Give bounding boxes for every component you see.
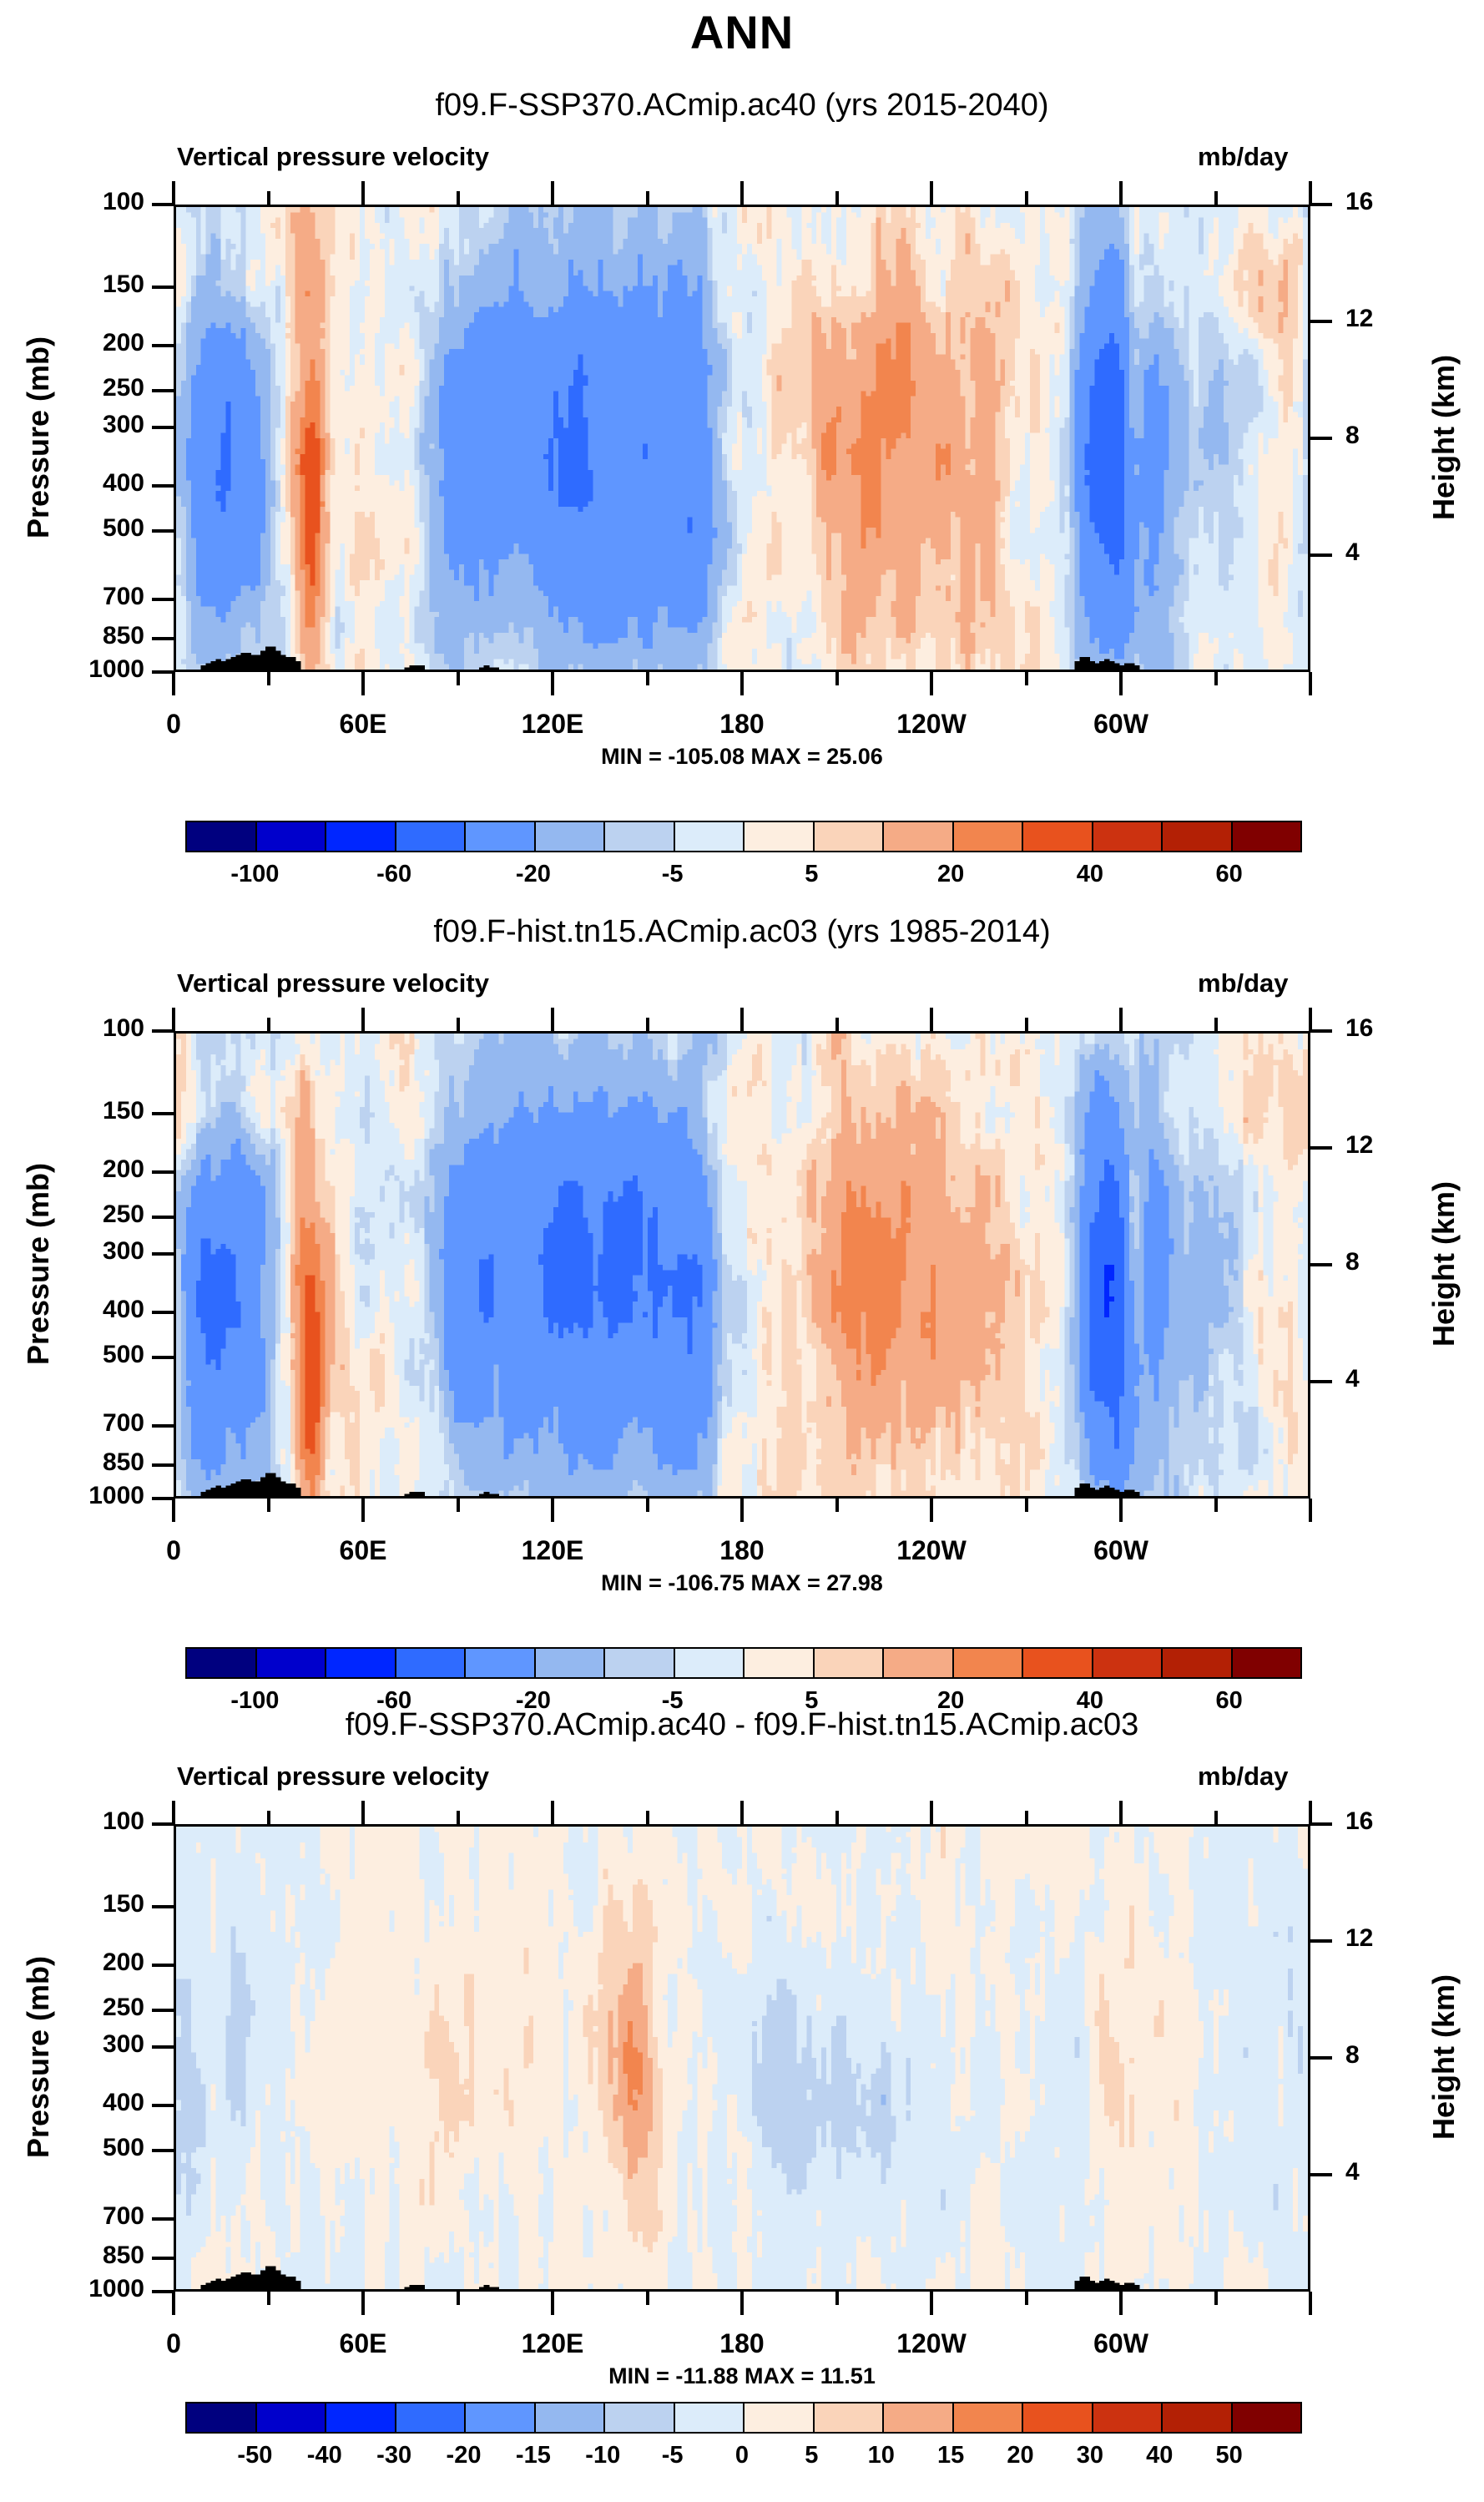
panel-3-title: f09.F-SSP370.ACmip.ac40 - f09.F-hist.tn1… [0, 1707, 1484, 1743]
panel-2-contour-field [176, 1034, 1308, 1496]
panel-3-contour-field [176, 1827, 1308, 2289]
panel-3-xtick-top-330 [1214, 1811, 1218, 1824]
panel-3-ytick-label-150: 150 [0, 1890, 144, 1918]
panel-2-ytick-label-850: 850 [0, 1448, 144, 1477]
panel-3-colorbar-label-1: -40 [307, 2442, 342, 2469]
panel-2-ytick-200 [152, 1170, 174, 1174]
panel-2-xtick-label-300: 60W [1046, 1535, 1196, 1566]
panel-1-colorbar [185, 821, 1302, 852]
panel-1-xtick-label-0: 0 [98, 709, 249, 740]
panel-2-xtick-top-330 [1214, 1018, 1218, 1031]
panel-1-xtick-top-120 [551, 181, 554, 205]
panel-3-xtick-270 [1025, 2292, 1028, 2305]
panel-2: f09.F-hist.tn15.ACmip.ac03 (yrs 1985-201… [0, 914, 1484, 1747]
panel-3-xtick-330 [1214, 2292, 1218, 2305]
panel-3-ytick-label-700: 700 [0, 2202, 144, 2231]
panel-1-xtick-120 [551, 672, 554, 695]
panel-2-xtick-top-210 [835, 1018, 839, 1031]
panel-3-ytick-label-850: 850 [0, 2242, 144, 2270]
panel-3-xtick-top-240 [930, 1801, 933, 1824]
panel-1-xtick-90 [457, 672, 460, 685]
panel-1-xtick-top-90 [457, 191, 460, 205]
panel-2-ytick-label-400: 400 [0, 1296, 144, 1324]
panel-1-colorbar-label-7: 60 [1215, 861, 1242, 888]
panel-1-xtick-top-0 [172, 181, 175, 205]
panel-2-colorbar-cell-12 [1023, 1649, 1093, 1677]
panel-3-y2tick-4 [1310, 2173, 1332, 2176]
panel-1-ytick-200 [152, 344, 174, 347]
panel-3-xtick-top-150 [646, 1811, 649, 1824]
panel-3-colorbar-label-7: 0 [735, 2442, 749, 2469]
panel-1-y2tick-12 [1310, 320, 1332, 323]
panel-1-xtick-270 [1025, 672, 1028, 685]
panel-1-colorbar-cell-15 [1233, 822, 1301, 851]
panel-1-ytick-700 [152, 598, 174, 601]
panel-3-ytick-500 [152, 2149, 174, 2152]
panel-1-ytick-300 [152, 426, 174, 429]
panel-1-xtick-360 [1309, 672, 1312, 695]
panel-1-colorbar-cell-13 [1093, 822, 1163, 851]
panel-3-xtick-top-60 [361, 1801, 365, 1824]
panel-3-plot-area [174, 1824, 1310, 2292]
panel-3-xtick-top-210 [835, 1811, 839, 1824]
panel-3-xtick-30 [267, 2292, 270, 2305]
panel-2-ytick-850 [152, 1463, 174, 1467]
panel-1-colorbar-cell-10 [884, 822, 954, 851]
panel-1-ytick-label-100: 100 [0, 188, 144, 216]
panel-2-xtick-60 [361, 1499, 365, 1522]
panel-1-xtick-top-360 [1309, 181, 1312, 205]
panel-1-xtick-top-180 [740, 181, 744, 205]
panel-3-xtick-top-270 [1025, 1811, 1028, 1824]
panel-1-colorbar-label-0: -100 [230, 861, 279, 888]
panel-3-ytick-150 [152, 1905, 174, 1908]
panel-2-xtick-top-360 [1309, 1008, 1312, 1031]
panel-2-xtick-label-120: 120E [477, 1535, 628, 1566]
panel-2-colorbar-cell-11 [954, 1649, 1024, 1677]
panel-2-ytick-label-300: 300 [0, 1237, 144, 1266]
panel-1-contour-field [176, 207, 1308, 670]
panel-1-xtick-label-60: 60E [288, 709, 438, 740]
panel-3-ytick-850 [152, 2257, 174, 2260]
panel-2-y2tick-16 [1310, 1029, 1332, 1033]
panel-2-colorbar-cell-5 [536, 1649, 606, 1677]
panel-1-xtick-top-330 [1214, 191, 1218, 205]
panel-2-xtick-360 [1309, 1499, 1312, 1522]
panel-1-y2tick-label-8: 8 [1345, 422, 1360, 450]
panel-2-colorbar-cell-9 [815, 1649, 885, 1677]
panel-2-xtick-top-0 [172, 1008, 175, 1031]
panel-1-colorbar-cell-1 [257, 822, 327, 851]
panel-1-ytick-label-200: 200 [0, 329, 144, 357]
panel-1-xtick-top-240 [930, 181, 933, 205]
panel-3-ylabel-right: Height (km) [1426, 1823, 1461, 2291]
panel-1-colorbar-label-2: -20 [516, 861, 551, 888]
panel-3-colorbar-cell-14 [1163, 2403, 1233, 2432]
panel-3-colorbar-label-13: 40 [1146, 2442, 1173, 2469]
panel-3-ytick-label-400: 400 [0, 2089, 144, 2117]
panel-3: f09.F-SSP370.ACmip.ac40 - f09.F-hist.tn1… [0, 1707, 1484, 2502]
panel-3-colorbar-label-9: 10 [868, 2442, 895, 2469]
panel-3-y2tick-label-8: 8 [1345, 2041, 1360, 2070]
panel-2-xtick-top-90 [457, 1018, 460, 1031]
panel-1-xtick-0 [172, 672, 175, 695]
panel-2-ytick-500 [152, 1356, 174, 1359]
panel-3-xtick-label-300: 60W [1046, 2328, 1196, 2359]
panel-3-colorbar-label-10: 15 [937, 2442, 964, 2469]
panel-1-ylabel-right: Height (km) [1426, 204, 1461, 671]
panel-3-y2tick-16 [1310, 1822, 1332, 1826]
panel-2-xtick-top-180 [740, 1008, 744, 1031]
panel-1-ytick-label-1000: 1000 [0, 655, 144, 684]
panel-3-xtick-0 [172, 2292, 175, 2315]
panel-2-xtick-90 [457, 1499, 460, 1512]
panel-2-ylabel-right: Height (km) [1426, 1030, 1461, 1498]
panel-3-xtick-90 [457, 2292, 460, 2305]
panel-3-colorbar-label-6: -5 [662, 2442, 684, 2469]
panel-2-xtick-label-240: 120W [856, 1535, 1007, 1566]
panel-1-xtick-240 [930, 672, 933, 695]
panel-2-xtick-label-0: 0 [98, 1535, 249, 1566]
panel-2-colorbar-cell-2 [326, 1649, 396, 1677]
panel-1-ytick-label-250: 250 [0, 374, 144, 402]
panel-2-variable-label: Vertical pressure velocity [177, 968, 489, 998]
panel-2-ytick-400 [152, 1311, 174, 1314]
panel-1-title: f09.F-SSP370.ACmip.ac40 (yrs 2015-2040) [0, 88, 1484, 124]
panel-1-xtick-top-30 [267, 191, 270, 205]
panel-3-minmax: MIN = -11.88 MAX = 11.51 [0, 2363, 1484, 2389]
panel-1-xtick-300 [1119, 672, 1123, 695]
panel-2-xtick-330 [1214, 1499, 1218, 1512]
panel-3-y2tick-label-4: 4 [1345, 2158, 1360, 2186]
panel-1-ytick-400 [152, 484, 174, 488]
panel-2-y2tick-8 [1310, 1263, 1332, 1266]
panel-3-ytick-300 [152, 2045, 174, 2049]
panel-2-xtick-label-60: 60E [288, 1535, 438, 1566]
panel-2-ytick-label-150: 150 [0, 1097, 144, 1125]
panel-1-colorbar-cell-8 [745, 822, 815, 851]
panel-1-xtick-label-120: 120E [477, 709, 628, 740]
panel-1-minmax: MIN = -105.08 MAX = 25.06 [0, 744, 1484, 770]
panel-2-ytick-label-100: 100 [0, 1014, 144, 1043]
panel-2-colorbar-cell-13 [1093, 1649, 1163, 1677]
panel-1-ytick-label-300: 300 [0, 411, 144, 439]
panel-2-ytick-label-1000: 1000 [0, 1482, 144, 1510]
panel-3-ytick-label-100: 100 [0, 1807, 144, 1836]
panel-1-colorbar-cell-3 [396, 822, 467, 851]
panel-1-colorbar-label-1: -60 [376, 861, 411, 888]
panel-3-ytick-label-200: 200 [0, 1949, 144, 1977]
panel-1-ytick-label-150: 150 [0, 270, 144, 299]
panel-3-colorbar-cell-6 [605, 2403, 675, 2432]
panel-1-xtick-330 [1214, 672, 1218, 685]
panel-1-colorbar-cell-5 [536, 822, 606, 851]
panel-2-plot-area [174, 1031, 1310, 1499]
panel-2-colorbar-cell-10 [884, 1649, 954, 1677]
panel-3-xtick-label-60: 60E [288, 2328, 438, 2359]
panel-2-xtick-180 [740, 1499, 744, 1522]
panel-1-ytick-100 [152, 203, 174, 206]
panel-3-colorbar-cell-10 [884, 2403, 954, 2432]
panel-1-y2tick-label-4: 4 [1345, 538, 1360, 567]
panel-2-xtick-top-240 [930, 1008, 933, 1031]
panel-1-colorbar-label-3: -5 [662, 861, 684, 888]
panel-3-xtick-210 [835, 2292, 839, 2305]
panel-3-xtick-360 [1309, 2292, 1312, 2315]
panel-2-xtick-210 [835, 1499, 839, 1512]
panel-1-y2tick-16 [1310, 203, 1332, 206]
panel-1-colorbar-cell-14 [1163, 822, 1233, 851]
panel-3-ytick-label-250: 250 [0, 1994, 144, 2022]
panel-3-ytick-label-500: 500 [0, 2134, 144, 2162]
panel-3-colorbar-cell-5 [536, 2403, 606, 2432]
panel-3-colorbar-label-8: 5 [805, 2442, 818, 2469]
panel-2-xtick-120 [551, 1499, 554, 1522]
panel-3-xtick-120 [551, 2292, 554, 2315]
panel-3-colorbar-label-2: -30 [376, 2442, 411, 2469]
panel-2-colorbar-cell-8 [745, 1649, 815, 1677]
panel-1-y2tick-label-12: 12 [1345, 305, 1373, 333]
panel-2-xtick-0 [172, 1499, 175, 1522]
panel-1-ytick-150 [152, 286, 174, 289]
panel-3-colorbar-label-4: -15 [516, 2442, 551, 2469]
panel-3-y2tick-8 [1310, 2056, 1332, 2060]
panel-3-colorbar-cell-4 [466, 2403, 536, 2432]
panel-2-colorbar-cell-15 [1233, 1649, 1301, 1677]
panel-2-ytick-label-500: 500 [0, 1341, 144, 1369]
panel-1-ytick-500 [152, 529, 174, 533]
panel-2-xtick-240 [930, 1499, 933, 1522]
panel-1-colorbar-cell-11 [954, 822, 1024, 851]
panel-2-colorbar-cell-3 [396, 1649, 467, 1677]
panel-3-colorbar-label-14: 50 [1215, 2442, 1242, 2469]
panel-2-ytick-250 [152, 1216, 174, 1219]
panel-3-xtick-label-120: 120E [477, 2328, 628, 2359]
panel-1-colorbar-cell-12 [1023, 822, 1093, 851]
panel-3-xtick-60 [361, 2292, 365, 2315]
panel-3-xtick-top-180 [740, 1801, 744, 1824]
panel-3-ytick-200 [152, 1964, 174, 1967]
panel-1-xtick-top-300 [1119, 181, 1123, 205]
panel-3-colorbar [185, 2402, 1302, 2434]
panel-2-xtick-label-180: 180 [667, 1535, 817, 1566]
panel-1-ytick-label-850: 850 [0, 622, 144, 650]
panel-2-colorbar-cell-7 [675, 1649, 745, 1677]
panel-2-xtick-150 [646, 1499, 649, 1512]
panel-3-colorbar-label-0: -50 [237, 2442, 272, 2469]
panel-3-ytick-label-1000: 1000 [0, 2275, 144, 2303]
panel-1-xtick-top-210 [835, 191, 839, 205]
panel-3-ytick-250 [152, 2009, 174, 2012]
panel-3-colorbar-cell-1 [257, 2403, 327, 2432]
panel-2-xtick-30 [267, 1499, 270, 1512]
panel-1-plot-area [174, 205, 1310, 672]
panel-2-xtick-top-120 [551, 1008, 554, 1031]
panel-3-ytick-1000 [152, 2290, 174, 2293]
panel-1-xtick-top-270 [1025, 191, 1028, 205]
main-title: ANN [0, 5, 1484, 59]
panel-1-colorbar-cell-2 [326, 822, 396, 851]
panel-2-ytick-100 [152, 1029, 174, 1033]
panel-1-units-label: mb/day [1198, 142, 1289, 172]
panel-3-xtick-150 [646, 2292, 649, 2305]
panel-3-units-label: mb/day [1198, 1762, 1289, 1792]
panel-3-ytick-700 [152, 2217, 174, 2221]
panel-2-ytick-label-250: 250 [0, 1200, 144, 1229]
panel-2-xtick-top-300 [1119, 1008, 1123, 1031]
panel-1-colorbar-label-6: 40 [1077, 861, 1103, 888]
panel-3-xtick-top-300 [1119, 1801, 1123, 1824]
panel-3-xtick-top-120 [551, 1801, 554, 1824]
panel-2-y2tick-4 [1310, 1380, 1332, 1383]
panel-3-colorbar-cell-8 [745, 2403, 815, 2432]
panel-3-xtick-top-30 [267, 1811, 270, 1824]
panel-1-colorbar-cell-6 [605, 822, 675, 851]
panel-3-colorbar-cell-12 [1023, 2403, 1093, 2432]
panel-1-y2tick-label-16: 16 [1345, 188, 1373, 216]
panel-3-y2tick-label-16: 16 [1345, 1807, 1373, 1836]
panel-2-ytick-1000 [152, 1497, 174, 1500]
panel-3-xtick-label-180: 180 [667, 2328, 817, 2359]
panel-2-colorbar-cell-1 [257, 1649, 327, 1677]
panel-2-ytick-150 [152, 1112, 174, 1115]
panel-2-colorbar-cell-0 [187, 1649, 257, 1677]
panel-2-xtick-top-270 [1025, 1018, 1028, 1031]
panel-3-colorbar-label-11: 20 [1007, 2442, 1033, 2469]
panel-3-xtick-180 [740, 2292, 744, 2315]
panel-2-colorbar-cell-4 [466, 1649, 536, 1677]
panel-3-ytick-100 [152, 1822, 174, 1826]
panel-1-colorbar-cell-4 [466, 822, 536, 851]
panel-2-y2tick-label-16: 16 [1345, 1014, 1373, 1043]
panel-3-colorbar-cell-7 [675, 2403, 745, 2432]
panel-1: f09.F-SSP370.ACmip.ac40 (yrs 2015-2040)V… [0, 88, 1484, 921]
panel-3-colorbar-cell-9 [815, 2403, 885, 2432]
panel-1-xtick-label-300: 60W [1046, 709, 1196, 740]
panel-3-y2tick-12 [1310, 1939, 1332, 1943]
panel-1-ytick-1000 [152, 670, 174, 674]
panel-1-variable-label: Vertical pressure velocity [177, 142, 489, 172]
panel-1-xtick-60 [361, 672, 365, 695]
panel-2-xtick-top-150 [646, 1018, 649, 1031]
panel-2-y2tick-label-12: 12 [1345, 1131, 1373, 1160]
panel-2-minmax: MIN = -106.75 MAX = 27.98 [0, 1570, 1484, 1596]
panel-3-colorbar-label-3: -20 [447, 2442, 482, 2469]
panel-2-ytick-700 [152, 1424, 174, 1428]
panel-3-xtick-label-0: 0 [98, 2328, 249, 2359]
panel-3-xtick-top-360 [1309, 1801, 1312, 1824]
panel-3-colorbar-cell-15 [1233, 2403, 1301, 2432]
panel-1-xtick-150 [646, 672, 649, 685]
panel-3-xtick-300 [1119, 2292, 1123, 2315]
panel-3-colorbar-cell-3 [396, 2403, 467, 2432]
panel-3-y2tick-label-12: 12 [1345, 1924, 1373, 1953]
panel-2-units-label: mb/day [1198, 968, 1289, 998]
panel-2-ytick-300 [152, 1252, 174, 1256]
panel-1-ytick-label-700: 700 [0, 583, 144, 611]
panel-1-xtick-top-150 [646, 191, 649, 205]
panel-1-xtick-label-240: 120W [856, 709, 1007, 740]
panel-3-colorbar-cell-2 [326, 2403, 396, 2432]
panel-3-xtick-label-240: 120W [856, 2328, 1007, 2359]
panel-3-variable-label: Vertical pressure velocity [177, 1762, 489, 1792]
panel-2-title: f09.F-hist.tn15.ACmip.ac03 (yrs 1985-201… [0, 914, 1484, 950]
panel-2-xtick-top-30 [267, 1018, 270, 1031]
panel-1-xtick-30 [267, 672, 270, 685]
panel-2-xtick-300 [1119, 1499, 1123, 1522]
panel-2-xtick-270 [1025, 1499, 1028, 1512]
panel-1-ytick-850 [152, 637, 174, 640]
panel-2-xtick-top-60 [361, 1008, 365, 1031]
panel-3-colorbar-cell-11 [954, 2403, 1024, 2432]
panel-2-y2tick-label-4: 4 [1345, 1365, 1360, 1393]
panel-3-colorbar-cell-13 [1093, 2403, 1163, 2432]
panel-1-colorbar-cell-9 [815, 822, 885, 851]
panel-1-y2tick-8 [1310, 437, 1332, 440]
panel-3-colorbar-label-5: -10 [585, 2442, 620, 2469]
panel-3-ytick-label-300: 300 [0, 2030, 144, 2059]
panel-1-y2tick-4 [1310, 553, 1332, 557]
panel-3-xtick-top-0 [172, 1801, 175, 1824]
panel-3-ytick-400 [152, 2104, 174, 2107]
panel-3-xtick-top-90 [457, 1811, 460, 1824]
panel-1-ytick-label-400: 400 [0, 469, 144, 498]
panel-3-xtick-240 [930, 2292, 933, 2315]
panel-2-ytick-label-200: 200 [0, 1155, 144, 1184]
panel-1-colorbar-cell-0 [187, 822, 257, 851]
figure-root: ANN f09.F-SSP370.ACmip.ac40 (yrs 2015-20… [0, 0, 1484, 2483]
panel-1-ytick-250 [152, 389, 174, 392]
panel-2-colorbar-cell-6 [605, 1649, 675, 1677]
panel-1-colorbar-label-5: 20 [937, 861, 964, 888]
panel-1-xtick-top-60 [361, 181, 365, 205]
panel-3-colorbar-label-12: 30 [1077, 2442, 1103, 2469]
panel-1-colorbar-cell-7 [675, 822, 745, 851]
panel-1-xtick-210 [835, 672, 839, 685]
panel-1-ytick-label-500: 500 [0, 514, 144, 543]
panel-2-y2tick-12 [1310, 1146, 1332, 1150]
panel-2-colorbar [185, 1647, 1302, 1679]
panel-1-xtick-label-180: 180 [667, 709, 817, 740]
panel-2-y2tick-label-8: 8 [1345, 1248, 1360, 1276]
panel-2-colorbar-cell-14 [1163, 1649, 1233, 1677]
panel-2-ytick-label-700: 700 [0, 1409, 144, 1438]
panel-1-colorbar-label-4: 5 [805, 861, 818, 888]
panel-3-colorbar-cell-0 [187, 2403, 257, 2432]
panel-1-xtick-180 [740, 672, 744, 695]
